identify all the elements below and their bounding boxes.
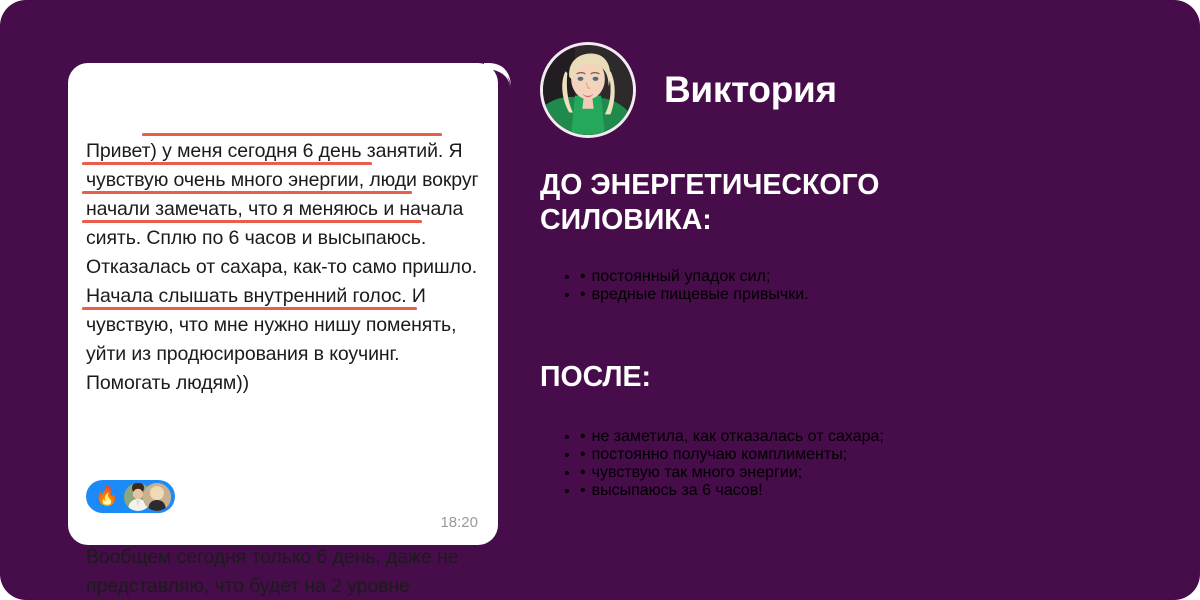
bubble-tail-icon <box>484 63 514 109</box>
list-item: •вредные пищевые привычки. <box>580 286 1200 304</box>
bullet-icon: • <box>580 482 586 499</box>
list-item-label: постоянно получаю комплименты; <box>592 446 848 463</box>
bullet-icon: • <box>580 268 586 285</box>
list-item-label: постоянный упадок сил; <box>592 268 771 285</box>
avatar <box>540 42 636 138</box>
bullet-icon: • <box>580 428 586 445</box>
section-before: ДО ЭНЕРГЕТИЧЕСКОГО СИЛОВИКА: <box>540 168 1160 238</box>
highlight-underline-3 <box>82 191 412 194</box>
highlight-underline-1 <box>142 133 442 136</box>
section-before-heading: ДО ЭНЕРГЕТИЧЕСКОГО СИЛОВИКА: <box>540 168 1160 238</box>
testimonial-card: Привет) у меня сегодня 6 день занятий. Я… <box>0 0 1200 600</box>
profile-name: Виктория <box>664 69 837 111</box>
chat-message-bubble: Привет) у меня сегодня 6 день занятий. Я… <box>68 63 498 545</box>
chat-screenshot-area: Привет) у меня сегодня 6 день занятий. Я… <box>68 63 498 545</box>
list-item-label: вредные пищевые привычки. <box>592 286 809 303</box>
list-item-label: высыпаюсь за 6 часов! <box>592 482 763 499</box>
chat-message-text: Привет) у меня сегодня 6 день занятий. Я… <box>86 79 480 600</box>
section-after-heading: ПОСЛЕ: <box>540 360 1160 395</box>
bullet-icon: • <box>580 446 586 463</box>
list-item: •чувствую так много энергии; <box>580 464 1200 482</box>
fire-emoji-icon: 🔥 <box>95 487 119 506</box>
list-item-label: чувствую так много энергии; <box>592 464 803 481</box>
section-before-list: •постоянный упадок сил; •вредные пищевые… <box>540 268 1200 304</box>
list-item: •не заметила, как отказалась от сахара; <box>580 428 1200 446</box>
section-after: ПОСЛЕ: <box>540 360 1160 395</box>
screenshot-canvas: Привет) у меня сегодня 6 день занятий. Я… <box>0 0 1200 600</box>
list-item: •постоянно получаю комплименты; <box>580 446 1200 464</box>
message-timestamp: 18:20 <box>440 514 478 531</box>
highlight-underline-2 <box>82 162 372 165</box>
message-paragraph-1: Привет) у меня сегодня 6 день занятий. Я… <box>86 137 480 398</box>
section-after-list: •не заметила, как отказалась от сахара; … <box>540 428 1200 500</box>
list-item: •постоянный упадок сил; <box>580 268 1200 286</box>
profile-row: Виктория <box>540 40 1170 140</box>
message-paragraph-2: Вообщем сегодня только 6 день, даже не п… <box>86 543 480 600</box>
highlight-underline-5 <box>82 307 417 310</box>
testimonial-details-pane: Виктория ДО ЭНЕРГЕТИЧЕСКОГО СИЛОВИКА: •п… <box>540 40 1170 560</box>
reactor-avatar-group <box>124 483 171 511</box>
bullet-icon: • <box>580 286 586 303</box>
list-item-label: не заметила, как отказалась от сахара; <box>592 428 884 445</box>
message-reaction-pill[interactable]: 🔥 <box>86 480 175 513</box>
reactor-avatar-2 <box>143 483 171 511</box>
list-item: •высыпаюсь за 6 часов! <box>580 482 1200 500</box>
highlight-underline-4 <box>82 220 422 223</box>
bullet-icon: • <box>580 464 586 481</box>
